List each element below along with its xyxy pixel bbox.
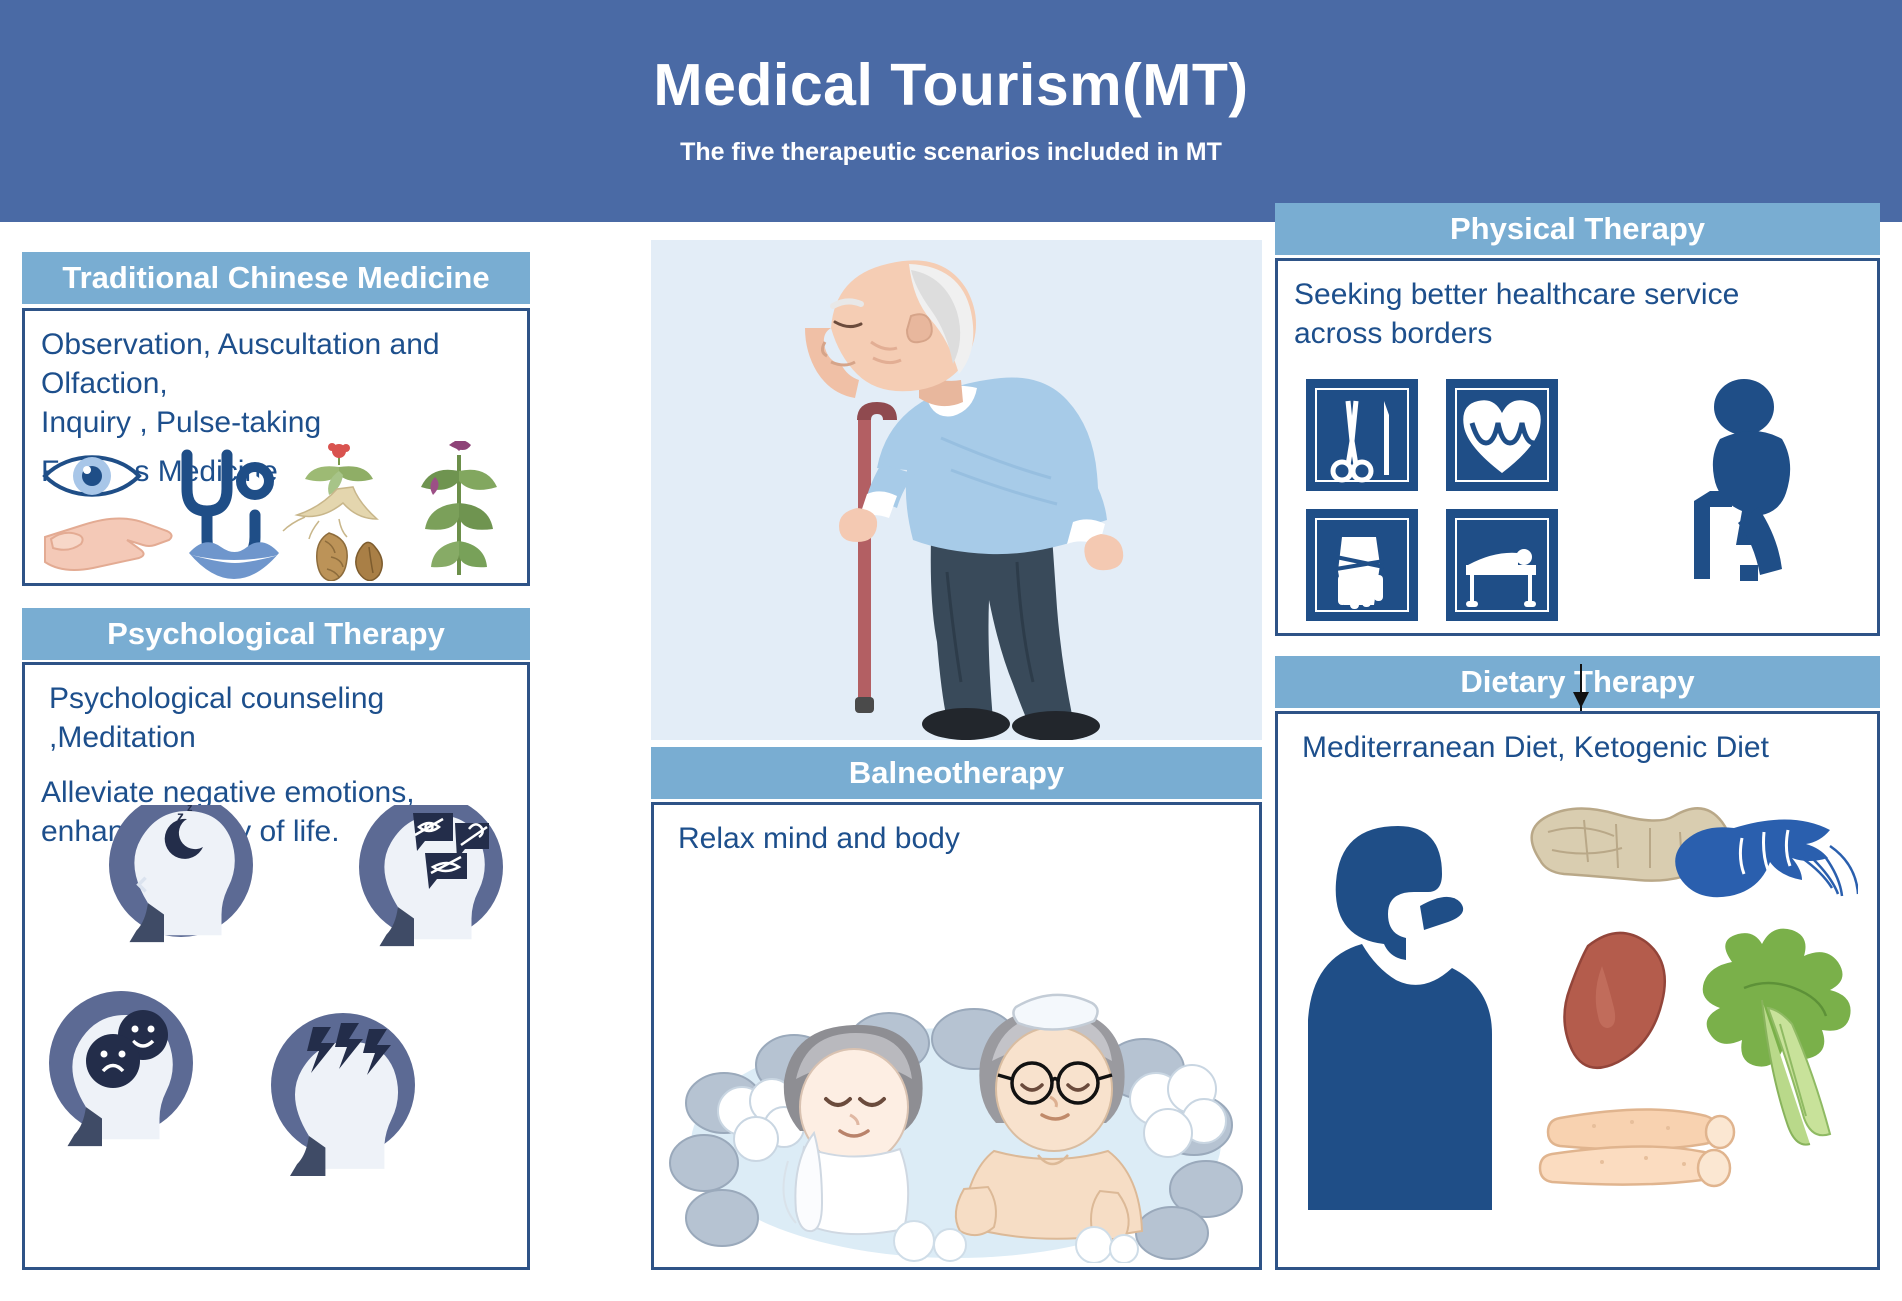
sensory-impairment-head-icon [359,805,503,946]
panel-body-psychological-therapy: Psychological counseling ,Meditation All… [22,662,530,1270]
yam-sticks-icon [1540,1109,1734,1186]
tcm-icon-group [39,441,529,581]
heart-ecg-icon [1446,379,1558,491]
svg-text:z: z [177,808,184,824]
tcm-line-2: Inquiry , Pulse-taking [41,403,511,442]
balneotherapy-text-block: Relax mind and body [654,805,1259,858]
stethoscope-diaphragm [250,476,260,486]
thistle-plant-icon [421,441,497,575]
panel-header-traditional-chinese-medicine: Traditional Chinese Medicine [22,252,530,304]
panel-body-balneotherapy: Relax mind and body [651,802,1262,1270]
panel-header-balneotherapy: Balneotherapy [651,747,1262,799]
emotion-faces-head-icon [49,991,193,1146]
hero-panel [651,240,1262,740]
psychological-icon-group: z z z [31,805,527,1255]
psy-line-1: Psychological counseling ,Meditation [41,679,511,757]
ginseng-root-icon [283,443,377,539]
surgical-instruments-icon [1306,379,1418,491]
page-subtitle: The five therapeutic scenarios included … [680,138,1222,167]
page-title: Medical Tourism(MT) [653,55,1248,117]
pulse-taking-hands-icon [45,518,172,570]
elderly-man-with-cane-illustration [761,242,1161,740]
herb-root-icon [317,533,382,581]
eye-icon [45,457,139,495]
panel-title-psychological: Psychological Therapy [107,616,445,652]
panel-header-psychological-therapy: Psychological Therapy [22,608,530,660]
person-eating-icon [1308,826,1492,1210]
panel-title-physical: Physical Therapy [1450,211,1705,247]
physical-therapy-icon-group [1306,379,1851,624]
hospital-bed-icon [1446,509,1558,621]
svg-text:z: z [187,805,193,814]
phy-line-2: across borders [1294,314,1861,353]
panel-header-physical-therapy: Physical Therapy [1275,203,1880,255]
die-line-1: Mediterranean Diet, Ketogenic Diet [1294,728,1861,767]
infographic-root: Medical Tourism(MT) The five therapeutic… [0,0,1902,1301]
phy-line-1: Seeking better healthcare service [1294,275,1861,314]
shrimp-icon [1675,819,1858,897]
lettuce-icon [1703,929,1851,1145]
lips-icon [189,542,279,579]
header-banner: Medical Tourism(MT) The five therapeutic… [0,0,1902,222]
tcm-line-1: Observation, Auscultation and Olfaction, [41,325,511,403]
panel-body-dietary-therapy: Mediterranean Diet, Ketogenic Diet [1275,711,1880,1270]
bal-line-1: Relax mind and body [670,819,1243,858]
panel-body-physical-therapy: Seeking better healthcare service across… [1275,258,1880,636]
physical-text-block: Seeking better healthcare service across… [1278,261,1877,353]
dietary-text-block: Mediterranean Diet, Ketogenic Diet [1278,714,1877,767]
insomnia-head-icon: z z z [109,805,253,942]
stress-lightning-head-icon [271,1013,415,1176]
panel-body-traditional-chinese-medicine: Observation, Auscultation and Olfaction,… [22,308,530,586]
panel-title-tcm: Traditional Chinese Medicine [62,260,489,296]
elderly-couple-hot-spring-illustration [664,893,1249,1263]
sweet-potato-icon [1564,933,1664,1068]
panel-title-balneotherapy: Balneotherapy [849,755,1064,791]
walker-patient-icon [1694,379,1790,581]
dietary-icon-group [1302,802,1858,1222]
elderly-woman-figure [784,1025,923,1234]
bandaged-hand-icon [1306,509,1418,621]
